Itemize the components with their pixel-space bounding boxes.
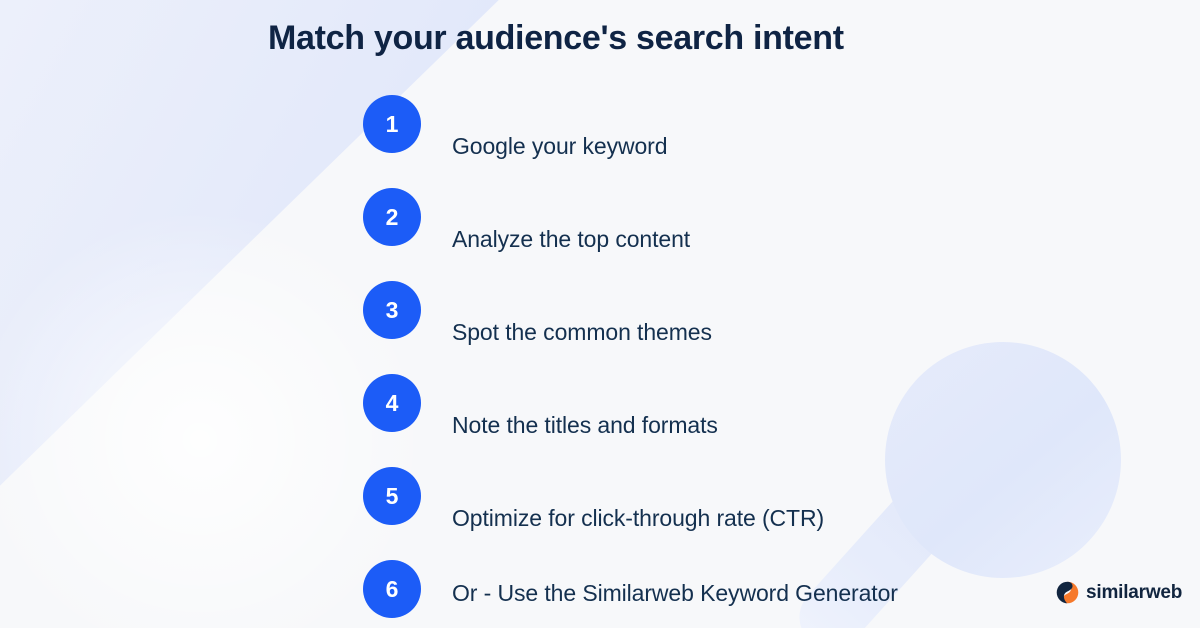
similarweb-logo: similarweb [1056,581,1182,604]
similarweb-wordmark: similarweb [1086,583,1182,602]
step-number-badge: 1 [363,95,421,153]
list-item: 5 Optimize for click-through rate (CTR) [363,467,1123,560]
step-number-badge: 3 [363,281,421,339]
list-item: 3 Spot the common themes [363,281,1123,374]
step-label: Or - Use the Similarweb Keyword Generato… [452,580,898,607]
list-item: 1 Google your keyword [363,95,1123,188]
step-number-badge: 4 [363,374,421,432]
infographic-canvas: Match your audience's search intent 1 Go… [0,0,1200,628]
similarweb-yinyang-icon [1056,581,1079,604]
step-number-badge: 2 [363,188,421,246]
list-item: 4 Note the titles and formats [363,374,1123,467]
step-label: Optimize for click-through rate (CTR) [452,505,824,532]
steps-list: 1 Google your keyword 2 Analyze the top … [363,95,1123,618]
step-label: Analyze the top content [452,226,690,253]
step-number-badge: 5 [363,467,421,525]
page-title: Match your audience's search intent [268,19,844,58]
list-item: 6 Or - Use the Similarweb Keyword Genera… [363,560,1123,618]
step-label: Spot the common themes [452,319,712,346]
step-label: Note the titles and formats [452,412,718,439]
list-item: 2 Analyze the top content [363,188,1123,281]
step-label: Google your keyword [452,133,667,160]
step-number-badge: 6 [363,560,421,618]
